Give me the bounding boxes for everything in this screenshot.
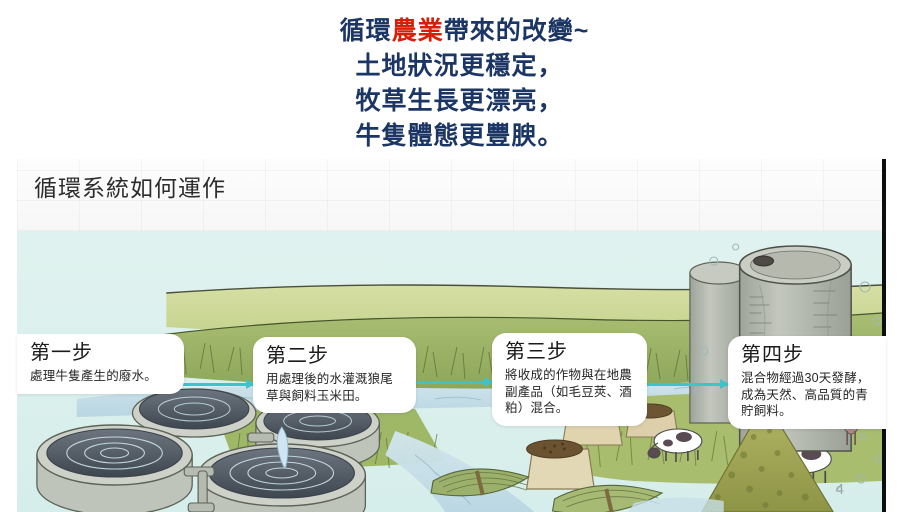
step-1-title: 第一步 xyxy=(30,341,173,366)
step-3-title: 第三步 xyxy=(505,340,636,365)
step-1-description: 處理牛隻產生的廢水。 xyxy=(30,368,173,385)
title-line-3: 牧草生長更漂亮， xyxy=(2,84,917,119)
flow-arrow-2 xyxy=(412,381,492,384)
step-2-description: 用處理後的水灌溉狼尾草與飼料玉米田。 xyxy=(266,371,405,404)
title-line-4: 牛隻體態更豐腴。 xyxy=(2,119,917,154)
page-number: 4 xyxy=(836,481,844,498)
flow-arrow-1 xyxy=(176,383,254,386)
step-callout-3[interactable]: 第三步 將收成的作物與在地農副產品（如毛豆莢、酒粕）混合。 xyxy=(492,333,647,426)
slide-title-block: 循環農業帶來的改變~ 土地狀況更穩定， 牧草生長更漂亮， 牛隻體態更豐腴。 xyxy=(0,14,917,154)
step-callout-2[interactable]: 第二步 用處理後的水灌溉狼尾草與飼料玉米田。 xyxy=(253,337,416,413)
flow-arrow-3 xyxy=(646,383,728,386)
step-callout-1[interactable]: 第一步 處理牛隻產生的廢水。 xyxy=(17,334,184,394)
step-4-description: 混合物經過30天發酵，成為天然、高品質的青貯飼料。 xyxy=(741,370,875,420)
panel-title: 循環系統如何運作 xyxy=(34,169,226,203)
panel-header-band: 循環系統如何運作 xyxy=(17,159,882,231)
step-3-description: 將收成的作物與在地農副產品（如毛豆莢、酒粕）混合。 xyxy=(505,367,636,417)
step-4-title: 第四步 xyxy=(741,343,875,368)
step-callout-4[interactable]: 第四步 混合物經過30天發酵，成為天然、高品質的青貯飼料。 xyxy=(728,336,886,429)
title-line-1: 循環農業帶來的改變~ xyxy=(12,14,917,49)
title-line-1-accent: 農業 xyxy=(392,17,444,45)
pool-front-left xyxy=(37,425,192,512)
title-line-1-post: 帶來的改變~ xyxy=(444,17,590,45)
silo-hatch xyxy=(754,256,774,266)
title-line-2: 土地狀況更穩定， xyxy=(2,49,917,84)
step-2-title: 第二步 xyxy=(266,344,405,369)
title-line-1-pre: 循環 xyxy=(340,17,392,45)
